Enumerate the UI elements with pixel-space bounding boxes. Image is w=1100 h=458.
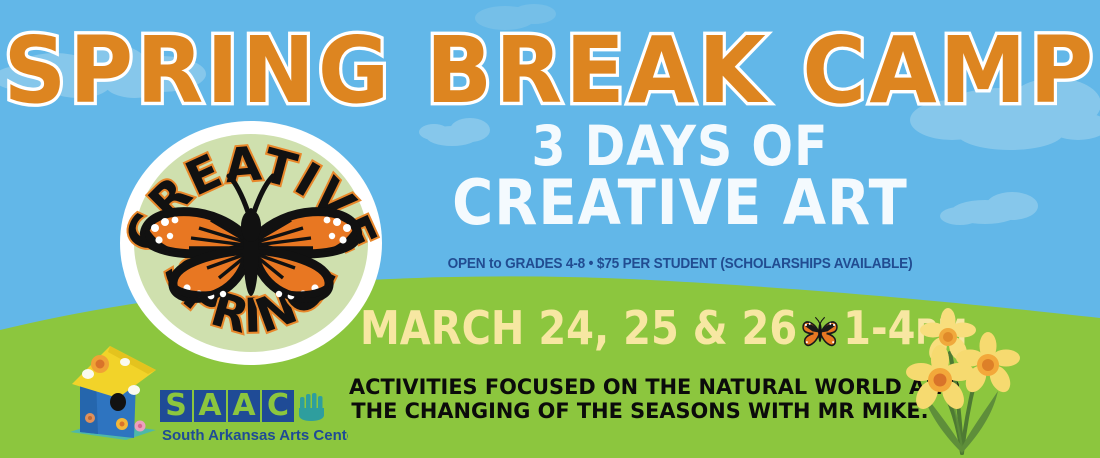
saac-logo: S A A C South Arkansas Arts Center — [158, 388, 348, 446]
creative-spring-badge: CREATIVE SPRING! — [118, 120, 384, 366]
description-line-2: THE CHANGING OF THE SEASONS WITH MR MIKE… — [349, 400, 931, 424]
svg-text:A: A — [198, 388, 222, 423]
date-text: MARCH 24, 25 & 26 — [360, 303, 797, 356]
saac-full-name: South Arkansas Arts Center — [162, 427, 348, 444]
headline-line-1: 3 DAYS OF — [400, 121, 960, 173]
svg-text:S: S — [165, 388, 187, 423]
svg-text:C: C — [267, 388, 289, 423]
headline: 3 DAYS OF CREATIVE ART — [400, 124, 960, 231]
butterfly-icon — [801, 315, 839, 350]
date-time-line: MARCH 24, 25 & 26 1-4PM — [360, 303, 960, 356]
headline-line-2: CREATIVE ART — [400, 175, 960, 234]
description: ACTIVITIES FOCUSED ON THE NATURAL WORLD … — [349, 376, 931, 424]
birdhouse-icon — [52, 340, 170, 448]
svg-text:A: A — [232, 388, 256, 423]
page-title: SPRING BREAK CAMP — [0, 18, 1100, 124]
spring-break-camp-poster: SPRING BREAK CAMP 3 DAYS OF CREATIVE ART… — [0, 0, 1100, 458]
hand-icon — [296, 390, 328, 422]
saac-letters: S A A C — [165, 388, 289, 423]
daffodil-flower-3 — [956, 332, 1020, 396]
fineprint-eligibility: OPEN to GRADES 4-8 • $75 PER STUDENT (SC… — [417, 256, 943, 272]
description-line-1: ACTIVITIES FOCUSED ON THE NATURAL WORLD … — [349, 376, 931, 400]
daffodil-flowers-icon — [900, 295, 1025, 455]
